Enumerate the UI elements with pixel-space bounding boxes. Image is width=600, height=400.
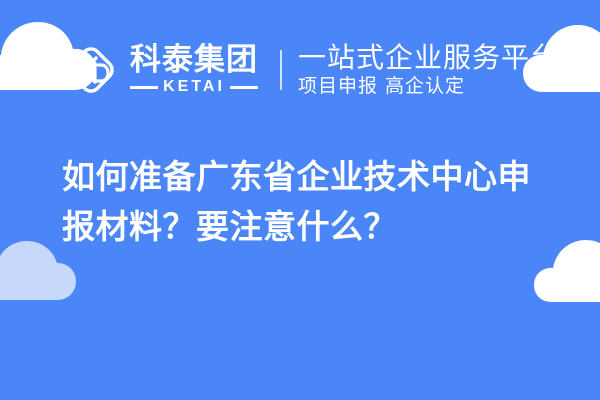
wordmark-rule-right xyxy=(230,86,258,89)
banner-header: 科泰集团 KETAI 一站式企业服务平台 项目申报 高企认定 xyxy=(0,30,600,110)
ketai-diamond-kd-logo-icon xyxy=(62,41,120,99)
banner-headline: 如何准备广东省企业技术中心申报材料？要注意什么？ xyxy=(62,152,562,252)
promo-banner: 科泰集团 KETAI 一站式企业服务平台 项目申报 高企认定 如何准备广东省企业… xyxy=(0,0,600,400)
tagline-block: 一站式企业服务平台 项目申报 高企认定 xyxy=(298,42,559,98)
tagline-sub: 项目申报 高企认定 xyxy=(298,76,559,98)
tagline-main: 一站式企业服务平台 xyxy=(298,42,559,73)
brand-wordmark: 科泰集团 KETAI xyxy=(130,44,258,96)
brand-name-en-row: KETAI xyxy=(130,78,258,96)
brand-name-en: KETAI xyxy=(158,78,230,96)
header-divider xyxy=(280,50,282,90)
brand-logo[interactable]: 科泰集团 KETAI xyxy=(62,41,258,99)
wordmark-rule-left xyxy=(130,86,158,89)
brand-name-cn: 科泰集团 xyxy=(130,44,258,77)
